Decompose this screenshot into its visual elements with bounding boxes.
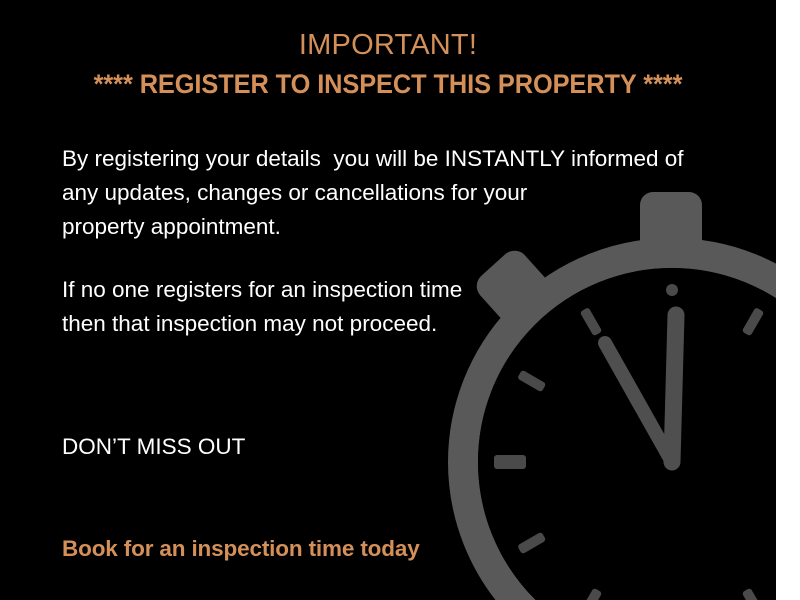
slide-text-layer: IMPORTANT! **** REGISTER TO INSPECT THIS…: [0, 0, 800, 600]
headline-block: IMPORTANT! **** REGISTER TO INSPECT THIS…: [0, 26, 776, 104]
headline-register-to-inspect: **** REGISTER TO INSPECT THIS PROPERTY *…: [23, 64, 752, 104]
promo-slide: IMPORTANT! **** REGISTER TO INSPECT THIS…: [0, 0, 800, 600]
right-edge-band: [776, 0, 800, 600]
call-to-action-block: DON’T MISS OUT Book for an inspection ti…: [62, 362, 582, 600]
headline-important: IMPORTANT!: [0, 26, 776, 64]
paragraph-registering-benefits: By registering your details you will be …: [62, 142, 722, 244]
cta-dont-miss-out: DON’T MISS OUT: [62, 430, 582, 464]
cta-book-inspection: Book for an inspection time today: [62, 532, 582, 566]
paragraph-no-registration-warning: If no one registers for an inspection ti…: [62, 273, 582, 341]
